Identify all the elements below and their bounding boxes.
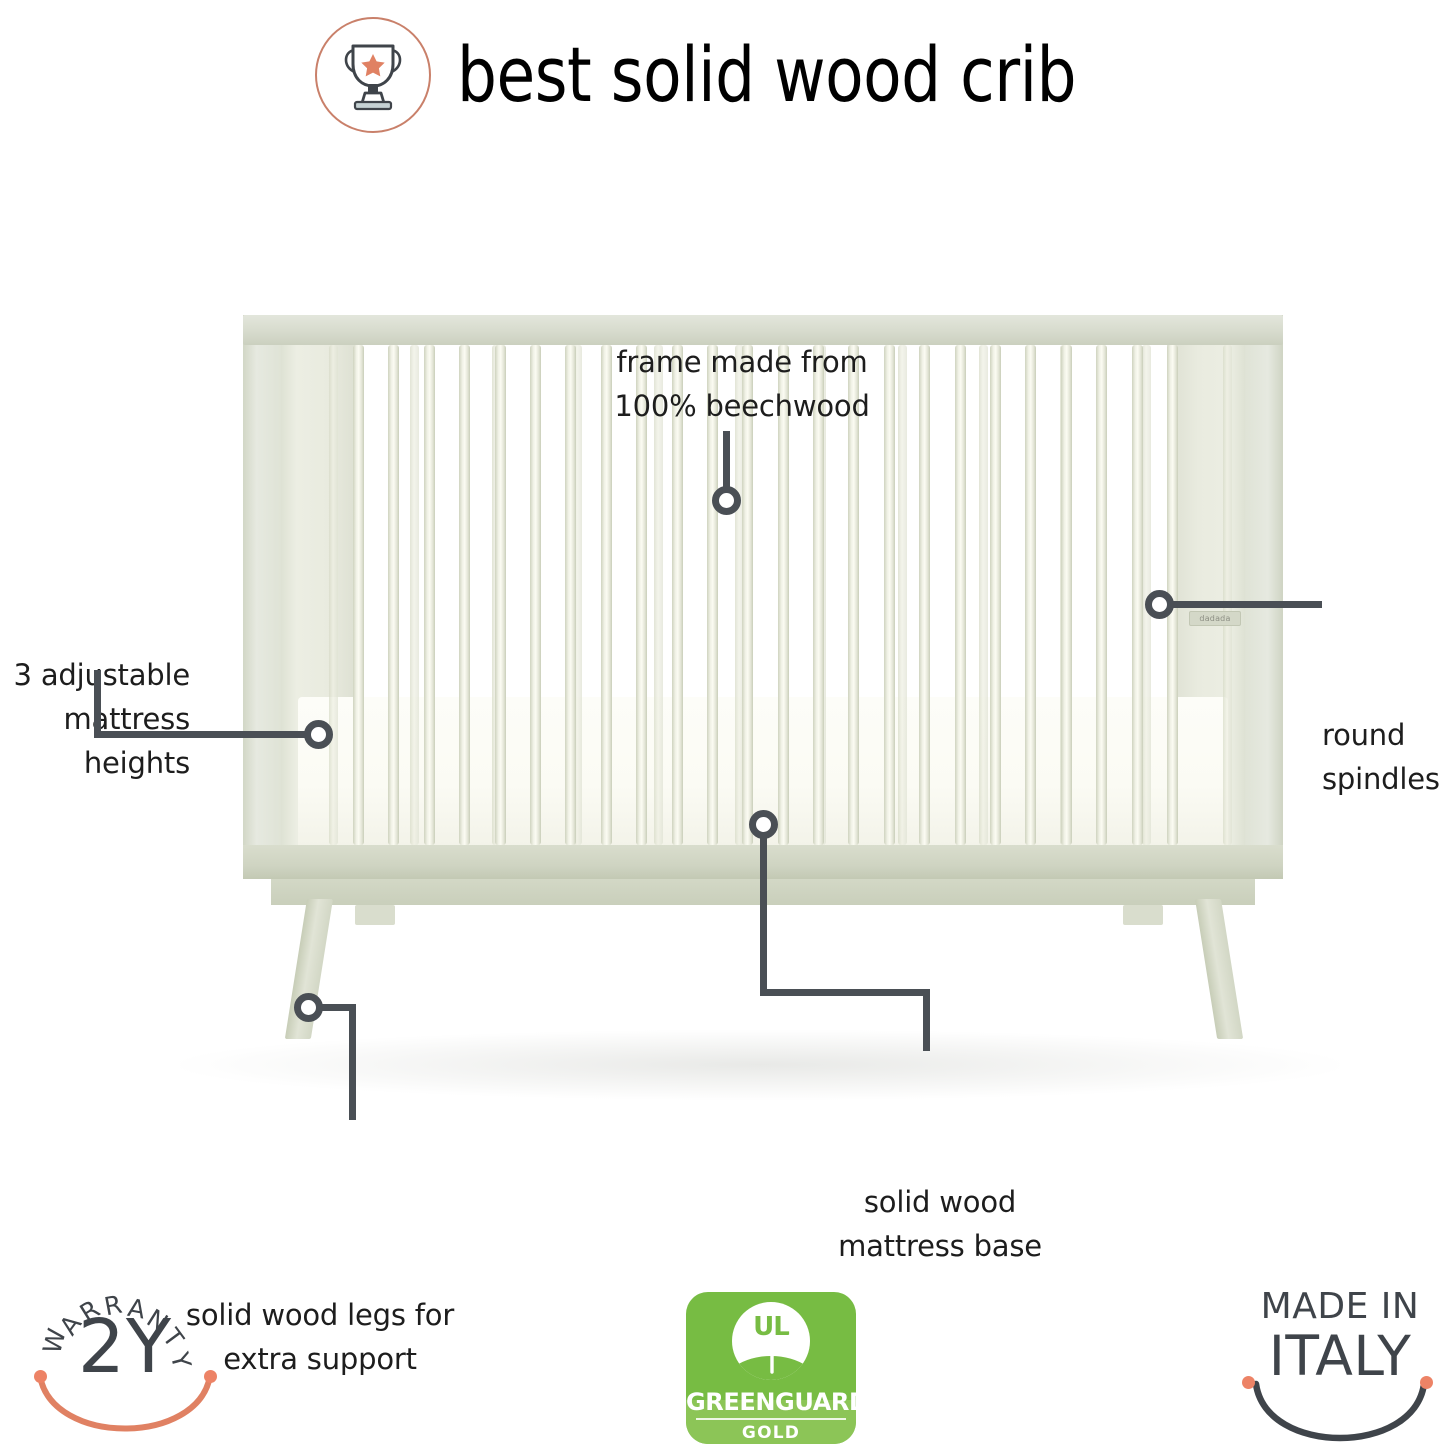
- leader-adjust-vertical: [94, 670, 101, 738]
- leader-base-vertical-1: [760, 836, 767, 996]
- made-in-italy-smile-arc: [1240, 1280, 1440, 1453]
- ul-leaf-icon: UL: [732, 1302, 810, 1380]
- marker-round-spindles: [1145, 590, 1174, 619]
- callout-frame-label: frame made from 100% beechwood: [562, 340, 922, 428]
- crib-spindle: [1132, 345, 1143, 845]
- crib-spindle: [530, 345, 541, 845]
- callout-mattress-base-label: solid wood mattress base: [790, 1180, 1090, 1268]
- brand-plate-text: dadada: [1199, 614, 1230, 623]
- made-in-dot-right: [1420, 1376, 1433, 1389]
- page-title: best solid wood crib: [457, 37, 1076, 113]
- award-badge: [315, 17, 431, 133]
- crib-spindle: [990, 345, 1001, 845]
- marker-mattress-base: [749, 810, 778, 839]
- leader-spindles: [1160, 601, 1322, 608]
- greenguard-box: UL GREENGUARD GOLD: [686, 1292, 856, 1444]
- crib-spindle: [1096, 345, 1107, 845]
- warranty-dot-left: [34, 1370, 47, 1383]
- crib-spindle: [459, 345, 470, 845]
- crib-support-stub-right: [1123, 905, 1163, 925]
- greenguard-name: GREENGUARD: [686, 1388, 856, 1416]
- callout-round-spindles-label: round spindles: [1322, 713, 1445, 801]
- crib-left-post: [243, 315, 281, 860]
- made-in-dot-left: [1242, 1376, 1255, 1389]
- certification-badges: WARRANTY 2Y UL GREENGUARD: [0, 1280, 1445, 1453]
- greenguard-level: GOLD: [686, 1423, 856, 1443]
- brand-plate: dadada: [1189, 611, 1241, 626]
- crib-support-stub-left: [355, 905, 395, 925]
- product-stage: dadada frame made from 100% beechwood 3 …: [0, 150, 1445, 1280]
- warranty-dot-right: [204, 1370, 217, 1383]
- marker-frame: [712, 486, 741, 515]
- trophy-icon: [339, 38, 407, 112]
- badge-made-in-italy: MADE IN ITALY: [1240, 1280, 1440, 1453]
- badge-warranty: WARRANTY 2Y: [16, 1280, 234, 1453]
- crib-spindle: [955, 345, 966, 845]
- infographic-page: best solid wood crib dadada frame made f…: [0, 0, 1445, 1453]
- crib-right-post: [1245, 315, 1283, 860]
- marker-solid-wood-legs: [294, 993, 323, 1022]
- leader-base-horizontal: [760, 989, 930, 996]
- crib-spindle-back: [979, 345, 988, 845]
- warranty-smile-arc: [16, 1280, 234, 1453]
- crib-spindle-back: [329, 345, 338, 845]
- crib-spindle: [495, 345, 506, 845]
- crib-spindle: [1061, 345, 1072, 845]
- leader-base-vertical-2: [923, 989, 930, 1051]
- crib-leg-right: [1195, 899, 1243, 1039]
- leaf-icon: [732, 1302, 810, 1380]
- leader-adjust-horizontal: [94, 731, 316, 738]
- crib-spindle: [1025, 345, 1036, 845]
- crib-spindle: [353, 345, 364, 845]
- marker-adjustable-heights: [304, 720, 333, 749]
- badge-greenguard: UL GREENGUARD GOLD: [682, 1280, 860, 1453]
- crib-spindle: [388, 345, 399, 845]
- leader-legs-vertical: [349, 1004, 356, 1120]
- crib-spindle-back: [1223, 345, 1232, 845]
- crib-spindle-back: [410, 345, 419, 845]
- greenguard-divider: [696, 1418, 846, 1420]
- crib-spindle: [424, 345, 435, 845]
- header: best solid wood crib: [0, 0, 1445, 150]
